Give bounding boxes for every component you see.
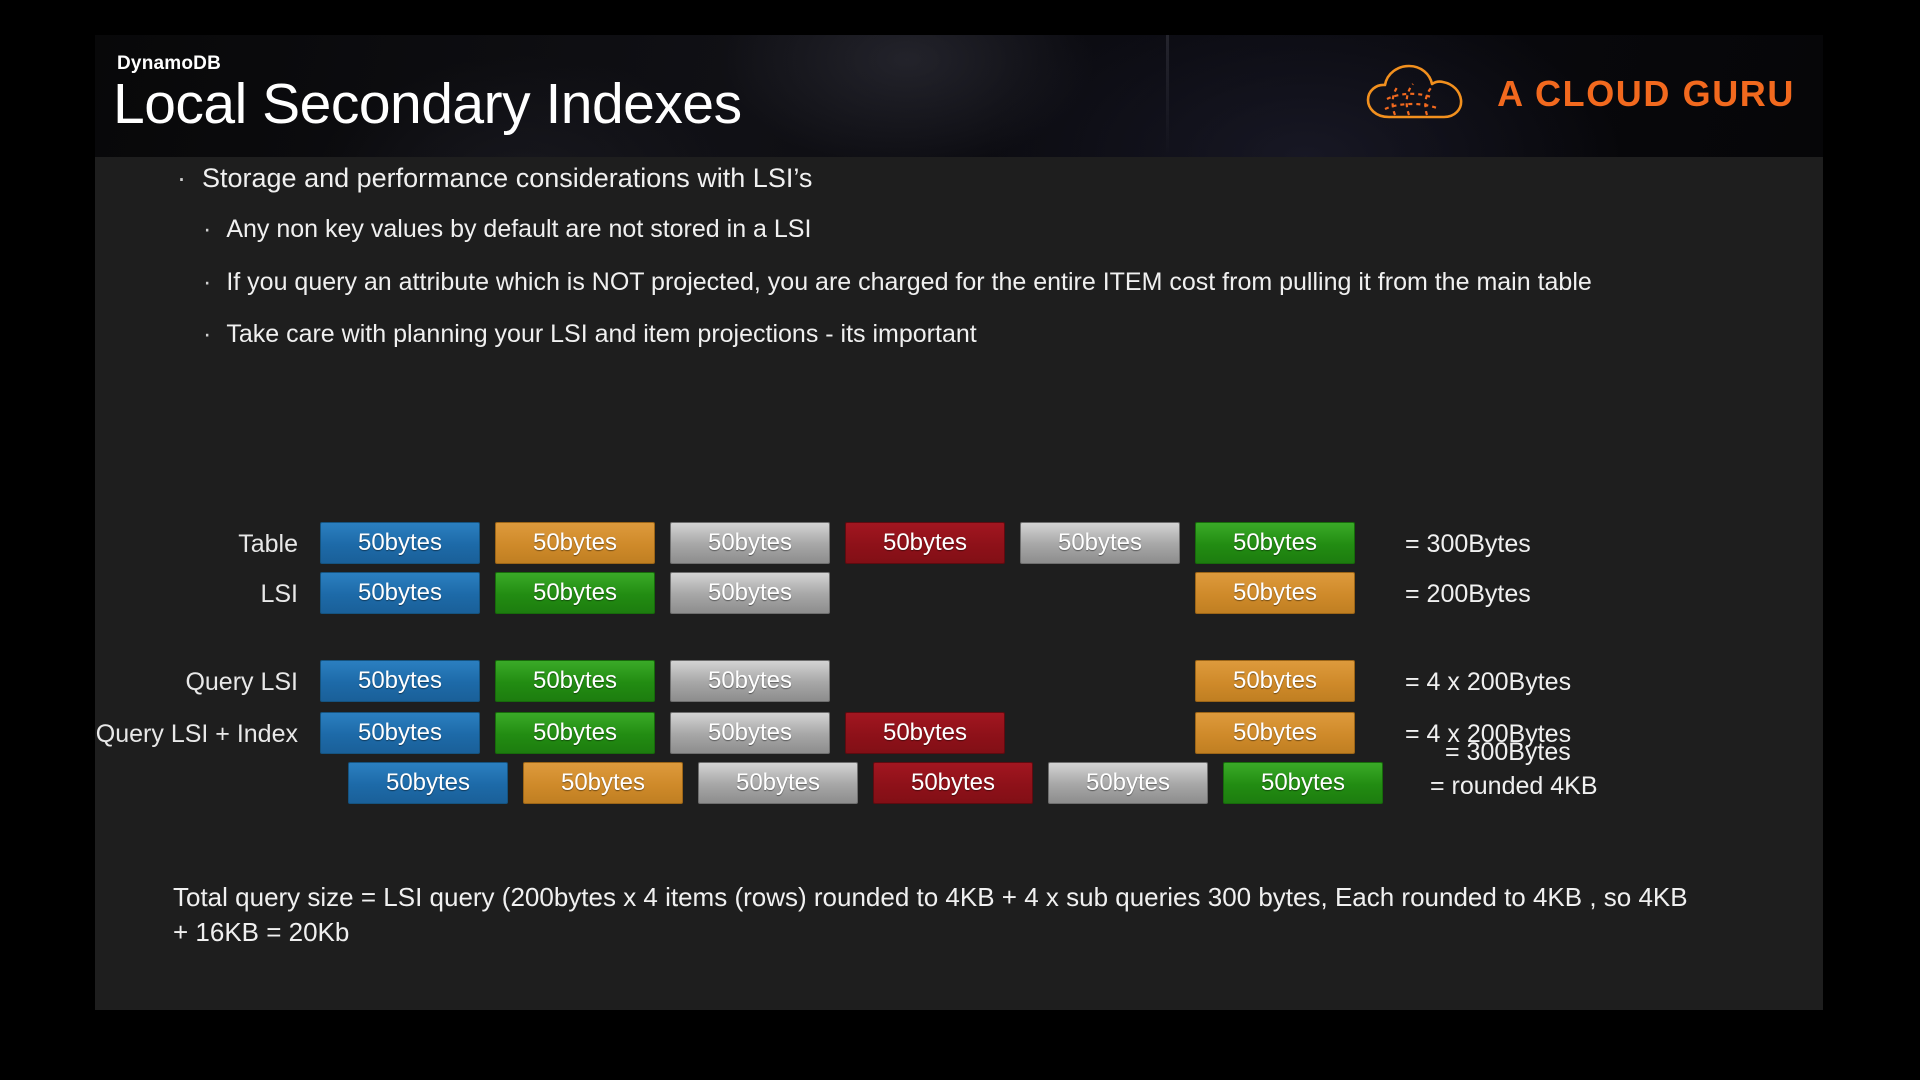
byte-cell-blue: 50bytes [320,572,480,614]
byte-cell-green: 50bytes [1223,762,1383,804]
row-label: Table [238,530,298,559]
row-result: = 300Bytes [1405,530,1531,559]
byte-cell-gray: 50bytes [670,660,830,702]
byte-cell-green: 50bytes [495,660,655,702]
byte-cell-orange: 50bytes [1195,660,1355,702]
byte-cell-gray: 50bytes [670,712,830,754]
byte-cell-red: 50bytes [845,712,1005,754]
slide-canvas: DynamoDB Local Secondary Indexes A CLOUD… [95,35,1823,1010]
byte-cell-blue: 50bytes [348,762,508,804]
byte-cell-green: 50bytes [495,712,655,754]
byte-diagram: Table50bytes50bytes50bytes50bytes50bytes… [95,35,1823,1010]
row-result: = 4 x 200Bytes [1405,668,1571,697]
summary-paragraph: Total query size = LSI query (200bytes x… [173,880,1693,950]
byte-cell-blue: 50bytes [320,660,480,702]
byte-cell-orange: 50bytes [1195,712,1355,754]
row-result: = 200Bytes [1405,580,1531,609]
byte-cell-orange: 50bytes [495,522,655,564]
byte-cell-gray: 50bytes [1020,522,1180,564]
extra-result: = rounded 4KB [1430,772,1598,801]
extra-result: = 300Bytes [1445,738,1571,767]
byte-cell-blue: 50bytes [320,712,480,754]
row-label: Query LSI + Index [96,720,298,749]
byte-cell-gray: 50bytes [1048,762,1208,804]
byte-cell-red: 50bytes [845,522,1005,564]
byte-cell-gray: 50bytes [698,762,858,804]
row-label: LSI [260,580,298,609]
byte-cell-gray: 50bytes [670,572,830,614]
byte-cell-green: 50bytes [495,572,655,614]
byte-cell-orange: 50bytes [1195,572,1355,614]
byte-cell-orange: 50bytes [523,762,683,804]
byte-cell-red: 50bytes [873,762,1033,804]
byte-cell-blue: 50bytes [320,522,480,564]
byte-cell-green: 50bytes [1195,522,1355,564]
byte-cell-gray: 50bytes [670,522,830,564]
row-label: Query LSI [185,668,298,697]
